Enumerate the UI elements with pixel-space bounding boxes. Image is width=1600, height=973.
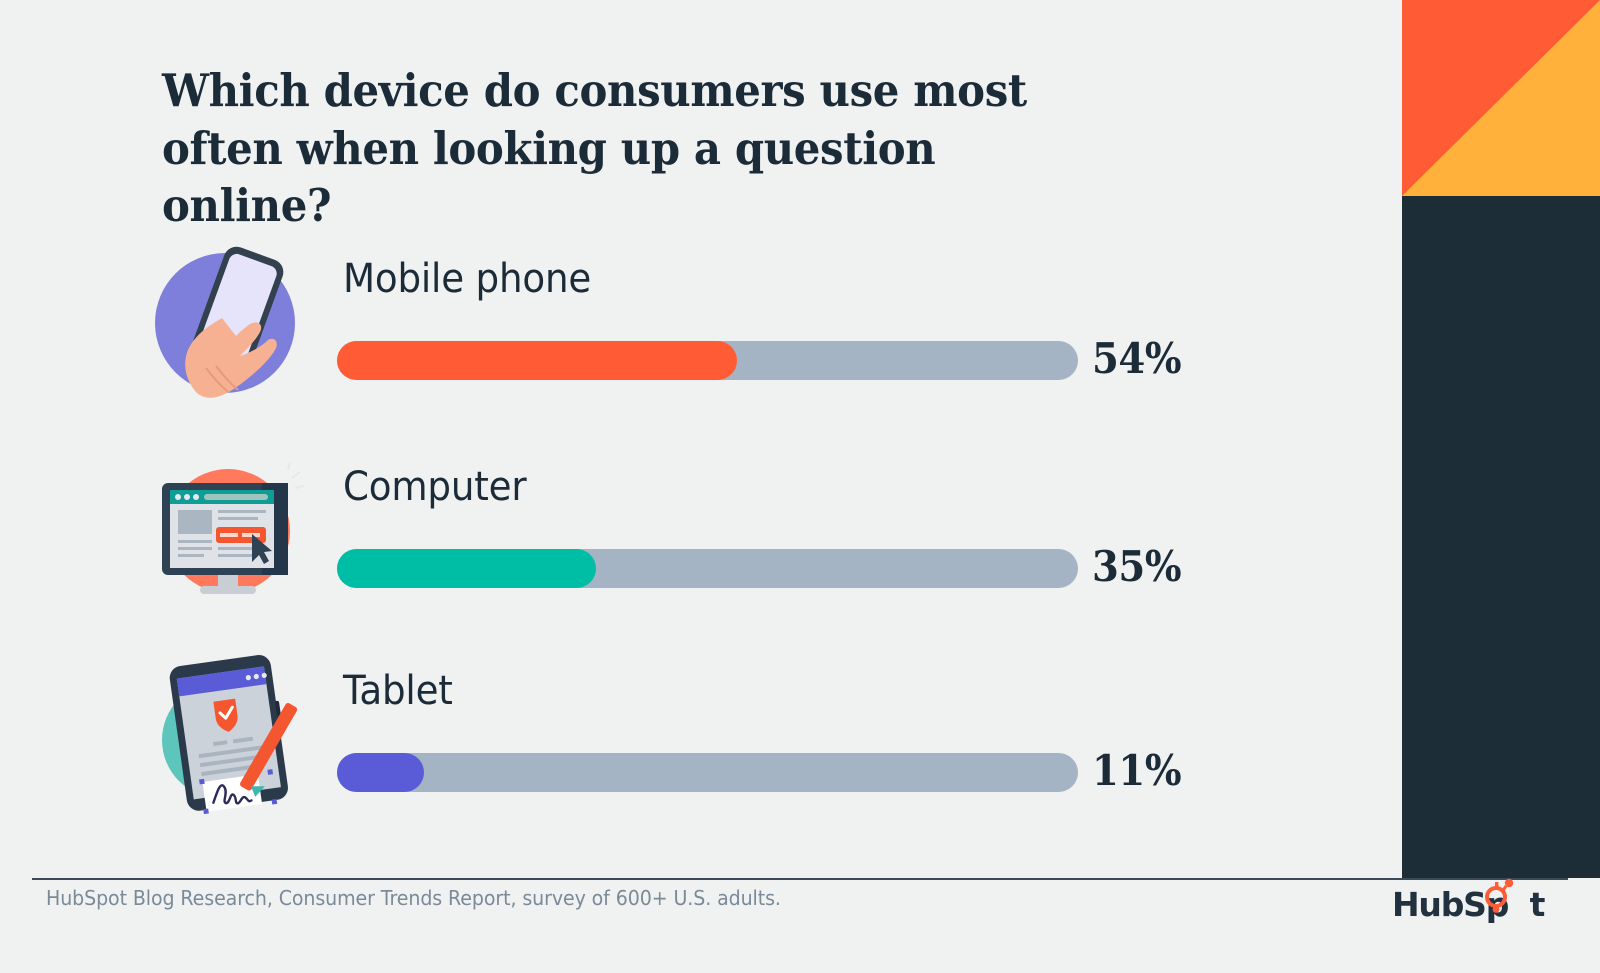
bar-fill — [337, 753, 424, 792]
bar-track — [337, 341, 1078, 380]
corner-yellow-block — [1402, 0, 1600, 196]
chart-row-mobile-phone: Mobile phone 54% — [140, 240, 1260, 410]
hubspot-sprocket-icon — [1476, 873, 1520, 917]
bar-value-label: 11% — [1092, 746, 1181, 795]
bar-track — [337, 549, 1078, 588]
row-label: Computer — [343, 464, 526, 510]
right-decorative-panel — [1402, 0, 1600, 973]
mobile-phone-in-hand-icon — [140, 240, 315, 410]
hubspot-logo: HubSpot — [1392, 884, 1544, 924]
chart-row-computer: Computer 35% — [140, 448, 1260, 618]
hubspot-logo-text: HubSpot — [1392, 885, 1544, 924]
chart-row-tablet: Tablet 11% — [140, 652, 1260, 822]
page-title: Which device do consumers use most often… — [162, 62, 1092, 235]
bar-value-label: 35% — [1092, 542, 1181, 591]
infographic-canvas: Which device do consumers use most often… — [0, 0, 1600, 973]
row-label: Mobile phone — [343, 256, 591, 302]
bar-value-label: 54% — [1092, 334, 1181, 383]
source-note: HubSpot Blog Research, Consumer Trends R… — [46, 886, 781, 910]
tablet-with-stylus-icon — [140, 652, 315, 822]
footer-divider — [32, 878, 1568, 880]
bar-fill — [337, 341, 737, 380]
hubspot-logo-text-tail: t — [1530, 885, 1545, 924]
desktop-computer-icon — [140, 448, 315, 618]
corner-orange-triangle — [1402, 0, 1600, 196]
bar-track — [337, 753, 1078, 792]
row-label: Tablet — [343, 668, 453, 714]
bar-fill — [337, 549, 596, 588]
